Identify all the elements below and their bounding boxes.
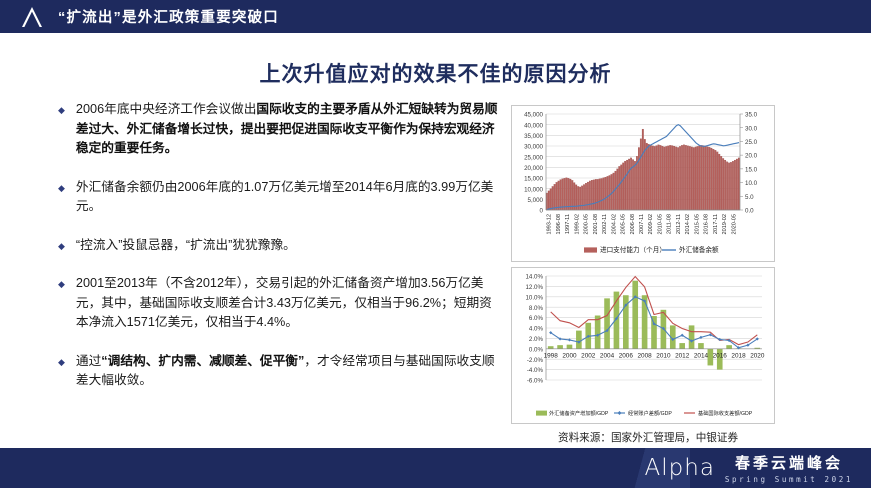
svg-text:2008: 2008 xyxy=(637,352,652,359)
svg-text:30,000: 30,000 xyxy=(524,144,543,151)
svg-text:25.0: 25.0 xyxy=(745,139,758,146)
svg-text:0.0%: 0.0% xyxy=(529,346,544,353)
svg-text:2.0%: 2.0% xyxy=(529,336,544,343)
bullet-text-5: 通过“调结构、扩内需、减顺差、促平衡”，才令经常项目与基础国际收支顺差大幅收敛。 xyxy=(76,352,498,391)
svg-text:2018: 2018 xyxy=(731,352,746,359)
svg-text:25,000: 25,000 xyxy=(524,154,543,161)
svg-text:4.0%: 4.0% xyxy=(529,326,544,333)
svg-text:2012-11: 2012-11 xyxy=(676,214,682,234)
svg-text:8.0%: 8.0% xyxy=(529,305,544,312)
svg-text:-2.0%: -2.0% xyxy=(527,357,544,364)
bullet-diamond-icon: ◆ xyxy=(58,275,65,294)
bullet-list: ◆ 2006年底中央经济工作会议做出国际收支的主要矛盾从外汇短缺转为贸易顺差过大… xyxy=(58,100,498,407)
bullet-text-2: 外汇储备余额仍由2006年底的1.07万亿美元增至2014年6月底的3.99万亿… xyxy=(76,178,498,217)
bullet-text-3: “控流入”投鼠忌器，“扩流出”犹犹豫豫。 xyxy=(76,236,296,256)
svg-text:35,000: 35,000 xyxy=(524,133,543,140)
list-item: ◆ 2001至2013年（不含2012年），交易引起的外汇储备资产增加3.56万… xyxy=(58,274,498,333)
svg-text:0: 0 xyxy=(540,208,544,215)
svg-text:2002: 2002 xyxy=(581,352,596,359)
chart-canvas-bottom: -6.0%-4.0%-2.0%0.0%2.0%4.0%6.0%8.0%10.0%… xyxy=(512,268,772,421)
svg-text:20,000: 20,000 xyxy=(524,165,543,172)
svg-text:10.0: 10.0 xyxy=(745,180,758,187)
svg-text:经常账户差额/GDP: 经常账户差额/GDP xyxy=(628,409,672,417)
svg-text:2016: 2016 xyxy=(713,352,728,359)
footer-logo-group: Alpha 春季云端峰会 Spring Summit 2021 xyxy=(645,452,853,484)
svg-text:2005-05: 2005-05 xyxy=(621,214,627,235)
svg-text:0.0: 0.0 xyxy=(745,208,754,215)
svg-text:35.0: 35.0 xyxy=(745,112,758,119)
import-payment-capacity-chart: 05,00010,00015,00020,00025,00030,00035,0… xyxy=(511,105,775,262)
bullet-text-4: 2001至2013年（不含2012年），交易引起的外汇储备资产增加3.56万亿美… xyxy=(76,274,498,333)
page-title: 上次升值应对的效果不佳的原因分析 xyxy=(0,58,871,88)
svg-text:外汇储备余额: 外汇储备余额 xyxy=(679,245,719,254)
svg-text:1998: 1998 xyxy=(544,352,559,359)
svg-text:2001-08: 2001-08 xyxy=(593,214,599,235)
footer-summit-cn: 春季云端峰会 xyxy=(735,452,843,473)
svg-text:2020: 2020 xyxy=(750,352,765,359)
footer-summit-name: 春季云端峰会 Spring Summit 2021 xyxy=(725,452,853,484)
svg-text:2006: 2006 xyxy=(619,352,634,359)
chart-canvas-top: 05,00010,00015,00020,00025,00030,00035,0… xyxy=(512,106,772,259)
svg-text:2012: 2012 xyxy=(675,352,690,359)
svg-text:2004-02: 2004-02 xyxy=(611,214,617,235)
svg-text:20.0: 20.0 xyxy=(745,153,758,160)
svg-text:外汇储备资产增加额/GDP: 外汇储备资产增加额/GDP xyxy=(549,409,609,417)
svg-text:10,000: 10,000 xyxy=(524,186,543,193)
svg-text:30.0: 30.0 xyxy=(745,125,758,132)
bullet-diamond-icon: ◆ xyxy=(58,101,65,120)
svg-text:2017-11: 2017-11 xyxy=(713,214,719,234)
svg-text:45,000: 45,000 xyxy=(524,112,543,119)
svg-text:2006-08: 2006-08 xyxy=(630,214,636,235)
svg-text:1999-02: 1999-02 xyxy=(574,214,580,235)
svg-text:15.0: 15.0 xyxy=(745,166,758,173)
svg-text:2002-11: 2002-11 xyxy=(602,214,608,234)
footer-alpha-wordmark: Alpha xyxy=(645,455,715,481)
slide-footer: Alpha 春季云端峰会 Spring Summit 2021 xyxy=(0,448,871,488)
svg-text:基础国际收支差额/GDP: 基础国际收支差额/GDP xyxy=(698,409,753,417)
svg-text:进口支付能力（个月）: 进口支付能力（个月） xyxy=(600,245,666,254)
bullet-text-1: 2006年底中央经济工作会议做出国际收支的主要矛盾从外汇短缺转为贸易顺差过大、外… xyxy=(76,100,498,159)
svg-text:15,000: 15,000 xyxy=(524,176,543,183)
svg-text:2019-02: 2019-02 xyxy=(722,214,728,235)
svg-text:6.0%: 6.0% xyxy=(529,315,544,322)
bullet-diamond-icon: ◆ xyxy=(58,179,65,198)
alpha-triangle-logo-icon xyxy=(20,6,44,28)
svg-text:2016-08: 2016-08 xyxy=(704,214,710,235)
svg-text:1993-12: 1993-12 xyxy=(547,214,553,235)
svg-text:5.0: 5.0 xyxy=(745,194,754,201)
svg-text:1997-11: 1997-11 xyxy=(565,214,571,234)
list-item: ◆ 外汇储备余额仍由2006年底的1.07万亿美元增至2014年6月底的3.99… xyxy=(58,178,498,217)
svg-text:2010: 2010 xyxy=(656,352,671,359)
svg-text:5,000: 5,000 xyxy=(528,197,544,204)
bullet-diamond-icon: ◆ xyxy=(58,353,65,372)
svg-text:1996-08: 1996-08 xyxy=(556,214,562,235)
svg-text:2000: 2000 xyxy=(562,352,577,359)
svg-text:2015-05: 2015-05 xyxy=(694,214,700,235)
slide-header: “扩流出”是外汇政策重要突破口 xyxy=(0,0,871,33)
svg-text:-6.0%: -6.0% xyxy=(527,378,544,385)
svg-text:2009-02: 2009-02 xyxy=(648,214,654,235)
svg-text:12.0%: 12.0% xyxy=(525,284,543,291)
bullet-diamond-icon: ◆ xyxy=(58,237,65,256)
source-note: 资料来源：国家外汇管理局，中银证券 xyxy=(558,430,738,445)
svg-text:2004: 2004 xyxy=(600,352,615,359)
svg-text:2010-05: 2010-05 xyxy=(657,214,663,235)
svg-text:2014-02: 2014-02 xyxy=(685,214,691,235)
svg-text:2007-11: 2007-11 xyxy=(639,214,645,234)
balance-of-payments-gdp-chart: -6.0%-4.0%-2.0%0.0%2.0%4.0%6.0%8.0%10.0%… xyxy=(511,267,775,424)
svg-text:2014: 2014 xyxy=(694,352,709,359)
svg-text:40,000: 40,000 xyxy=(524,122,543,129)
header-title: “扩流出”是外汇政策重要突破口 xyxy=(58,6,279,27)
list-item: ◆ 通过“调结构、扩内需、减顺差、促平衡”，才令经常项目与基础国际收支顺差大幅收… xyxy=(58,352,498,391)
svg-text:2020-05: 2020-05 xyxy=(731,214,737,235)
list-item: ◆ 2006年底中央经济工作会议做出国际收支的主要矛盾从外汇短缺转为贸易顺差过大… xyxy=(58,100,498,159)
svg-text:-4.0%: -4.0% xyxy=(527,367,544,374)
svg-text:14.0%: 14.0% xyxy=(525,274,543,281)
list-item: ◆ “控流入”投鼠忌器，“扩流出”犹犹豫豫。 xyxy=(58,236,498,256)
svg-text:2000-05: 2000-05 xyxy=(584,214,590,235)
svg-text:10.0%: 10.0% xyxy=(525,294,543,301)
footer-summit-en: Spring Summit 2021 xyxy=(725,475,853,484)
svg-text:2011-08: 2011-08 xyxy=(667,214,673,234)
